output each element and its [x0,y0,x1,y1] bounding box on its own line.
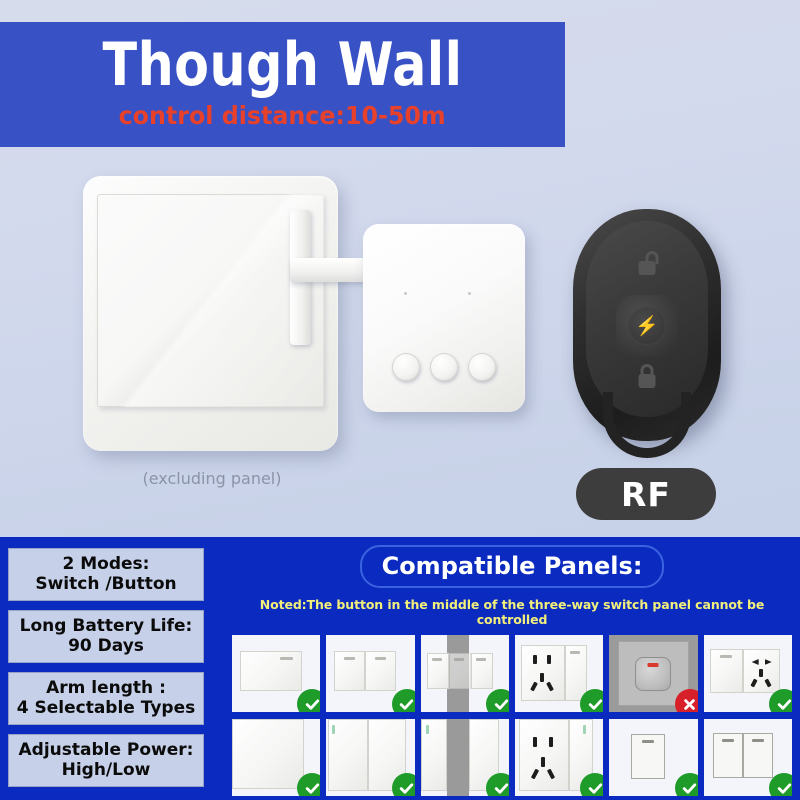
bottom-feature-panel: 2 Modes: Switch /Button Long Battery Lif… [0,537,800,800]
feature-box-battery: Long Battery Life: 90 Days [8,610,204,663]
check-icon [769,773,792,796]
panel-thumb-double-rocker-panel[interactable] [704,719,792,796]
feature-line-1: Adjustable Power: [19,740,194,760]
status-led [648,663,659,667]
remote-center-button[interactable]: ⚡ [616,295,678,357]
feature-line-1: Long Battery Life: [20,616,193,636]
panel-thumb-two-gang-switch[interactable] [326,635,414,712]
feature-line-2: 4 Selectable Types [13,698,199,718]
panel-thumb-single-rocker-panel[interactable] [609,719,697,796]
rf-remote: ⚡ [573,209,721,441]
banner-title: Though Wall [103,35,463,96]
product-infographic: Though Wall control distance:10-50m (exc… [0,0,800,800]
device-button-2[interactable] [430,353,458,381]
device-button-3[interactable] [468,353,496,381]
check-icon [580,773,603,796]
check-icon [486,689,509,712]
feature-line-2: 90 Days [13,636,199,656]
check-icon [297,689,320,712]
finger-robot-device [363,224,525,412]
panel-thumb-round-knob-switch[interactable] [609,635,697,712]
unlock-icon [639,251,656,275]
banner-subtitle: control distance:10-50m [119,102,446,130]
header-banner: Though Wall control distance:10-50m [0,22,565,147]
panel-thumb-socket-with-switch[interactable] [515,635,603,712]
feature-list: 2 Modes: Switch /Button Long Battery Lif… [8,548,204,787]
panel-thumb-three-gang-tall-switch[interactable] [421,719,509,796]
compatible-panels-note: Noted:The button in the middle of the th… [232,597,792,627]
feature-box-modes: 2 Modes: Switch /Button [8,548,204,601]
feature-box-arm-length: Arm length : 4 Selectable Types [8,672,204,725]
check-icon [580,689,603,712]
check-icon [297,773,320,796]
compatible-panels-title: Compatible Panels: [360,545,664,588]
device-indicator-dot [404,292,407,295]
panel-thumb-blank-wide-switch[interactable] [232,719,320,796]
lightning-bolt-icon: ⚡ [635,317,659,336]
check-icon [486,773,509,796]
remote-face: ⚡ [586,221,708,417]
panel-thumb-two-gang-tall-switch[interactable] [326,719,414,796]
feature-box-power: Adjustable Power: High/Low [8,734,204,787]
panel-thumb-socket-tall-panel[interactable] [515,719,603,796]
feature-line-2: Switch /Button [13,574,199,594]
lock-icon [639,364,656,388]
compatible-panels-section: Compatible Panels: Noted:The button in t… [232,545,792,796]
keyring-loop [603,392,691,458]
knob-icon [635,657,671,691]
panel-thumb-one-gang-switch[interactable] [232,635,320,712]
feature-line-2: High/Low [13,760,199,780]
panel-thumb-three-gang-switch[interactable] [421,635,509,712]
rf-badge: RF [576,468,716,520]
device-indicator-dot [468,292,471,295]
panel-thumb-switch-socket-combo[interactable] [704,635,792,712]
excluding-panel-caption: (excluding panel) [82,469,342,488]
device-button-1[interactable] [392,353,420,381]
compatible-panels-grid [232,635,792,796]
remote-center-ring: ⚡ [628,307,666,345]
check-icon [769,689,792,712]
actuator-arm-horizontal [290,258,373,282]
feature-line-1: Arm length : [46,678,166,698]
feature-line-1: 2 Modes: [63,554,150,574]
